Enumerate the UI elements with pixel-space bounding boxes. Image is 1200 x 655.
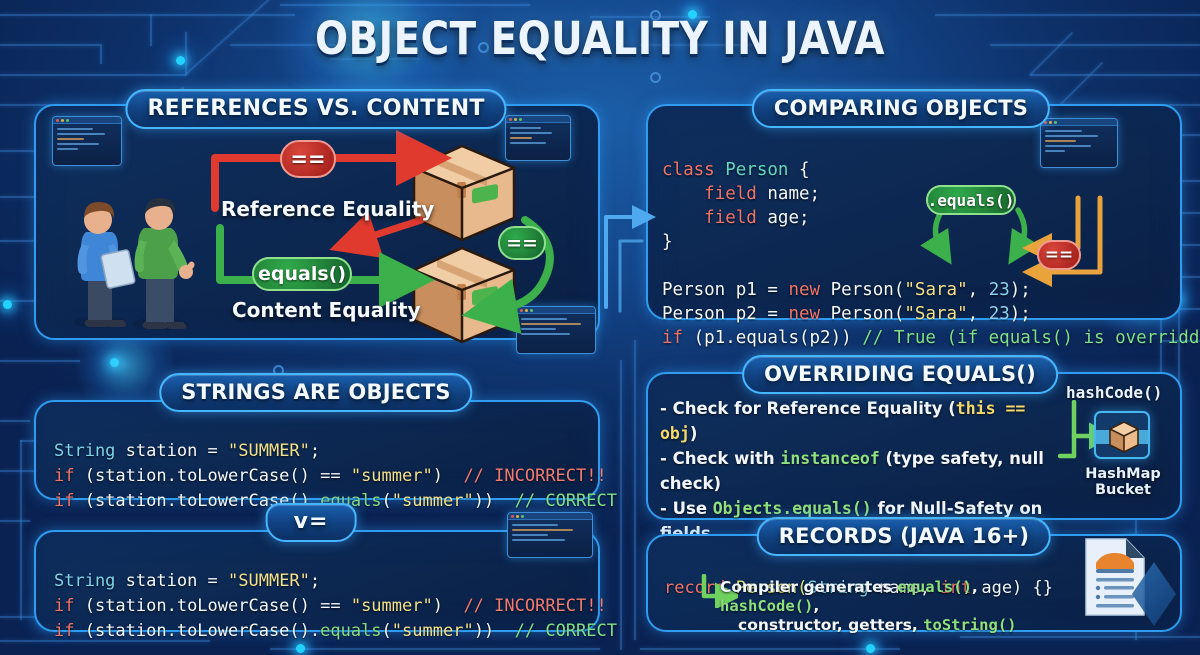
code-field-name: name; xyxy=(767,184,820,204)
code-p1-ctor: Person( xyxy=(831,280,905,300)
header-strings-are-objects: STRINGS ARE OBJECTS xyxy=(159,373,472,412)
code-if-cond: (p1.equals(p2)) xyxy=(694,328,852,348)
t2-str: "summer" xyxy=(351,596,433,616)
code-p2-var: p2 = xyxy=(736,304,778,324)
page-title: OBJECT EQUALITY IN JAVA xyxy=(24,12,1176,65)
code-type-person: Person xyxy=(725,160,788,180)
t1-str: "SUMMER" xyxy=(228,571,310,591)
s1-mid: station = xyxy=(115,441,228,461)
panel-connector-arrow xyxy=(598,185,656,315)
callout-double-equals: == xyxy=(1037,240,1081,270)
records-note-sep2: , xyxy=(813,597,819,615)
code-p2-end: ); xyxy=(1010,304,1031,324)
caption-hashmap-line1: HashMap xyxy=(1080,466,1166,482)
records-note: Compiler generates equals(), hashCode(),… xyxy=(720,578,1060,635)
label-reference-equality: Reference Equality xyxy=(221,197,434,221)
badge-v-equals: v= xyxy=(266,503,357,542)
t3-mid2: ( xyxy=(382,621,392,641)
code-if-comment: // True (if equals() is overridden) xyxy=(862,328,1200,348)
s1-end: ; xyxy=(310,441,320,461)
code-field-age: age; xyxy=(767,208,809,228)
s3-str: "summer" xyxy=(392,491,474,511)
header-overriding-equals: OVERRIDING EQUALS() xyxy=(742,355,1058,394)
bullet-1-dash: - xyxy=(660,399,673,418)
t3-end: )) xyxy=(474,621,515,641)
code-if-kw: if xyxy=(662,328,683,348)
s3-comment: // CORRECT xyxy=(515,491,617,511)
header-comparing-objects: COMPARING OBJECTS xyxy=(752,89,1050,128)
record-document-icon xyxy=(1082,535,1148,619)
t3-mid: (station.toLowerCase(). xyxy=(74,621,320,641)
bullet-3-pre: Use xyxy=(673,499,713,518)
t1-mid: station = xyxy=(115,571,228,591)
code-p2-sep: , xyxy=(968,304,989,324)
code-p1-var: p1 = xyxy=(736,280,778,300)
code-kw-field-1: field xyxy=(704,184,757,204)
code-strings-are-objects: String station = "SUMMER"; if (station.t… xyxy=(54,414,617,514)
bullet-2: - Check with instanceof (type safety, nu… xyxy=(660,446,1065,496)
illustration-two-developers xyxy=(60,140,200,330)
records-note-line1: Compiler generates equals(), hashCode(), xyxy=(720,578,1060,616)
t2-mid: (station.toLowerCase() == xyxy=(74,596,350,616)
bullet-2-code: instanceof xyxy=(780,449,879,468)
infographic-root: OBJECT EQUALITY IN JAVA REFERENCES VS. C… xyxy=(0,0,1200,655)
t3-str: "summer" xyxy=(392,621,474,641)
bullet-1-post: ) xyxy=(690,424,698,443)
code-p2-str: "Sara" xyxy=(904,304,967,324)
s2-mid: (station.toLowerCase() == xyxy=(74,466,350,486)
s3-end: )) xyxy=(474,491,515,511)
records-note-hashcode: hashCode() xyxy=(720,597,813,615)
caption-hashmap-bucket: HashMap Bucket xyxy=(1080,466,1166,498)
code-kw-field-2: field xyxy=(704,208,757,228)
t1-type: String xyxy=(54,571,115,591)
code-p2-num: 23 xyxy=(989,304,1010,324)
t2-comment: // INCORRECT!! xyxy=(463,596,606,616)
code-p2-new: new xyxy=(788,304,820,324)
s2-str: "summer" xyxy=(351,466,433,486)
bullet-2-dash: - xyxy=(660,449,673,468)
label-content-equality: Content Equality xyxy=(232,298,421,322)
records-note-pre: Compiler generates xyxy=(720,578,897,596)
t3-method: equals xyxy=(320,621,381,641)
s2-if: if xyxy=(54,466,74,486)
records-note-line2-pre: constructor, getters, xyxy=(738,616,923,634)
code-brace-open: { xyxy=(799,160,810,180)
bullet-2-pre: Check with xyxy=(673,449,781,468)
code-p2-type: Person xyxy=(662,304,725,324)
bullet-1: - Check for Reference Equality (this == … xyxy=(660,396,1065,446)
code-p1-new: new xyxy=(788,280,820,300)
pill-equals-method: equals() xyxy=(252,257,352,291)
header-records: RECORDS (JAVA 16+) xyxy=(757,517,1051,556)
s3-mid2: ( xyxy=(382,491,392,511)
code-p1-type: Person xyxy=(662,280,725,300)
t1-end: ; xyxy=(310,571,320,591)
code-kw-class: class xyxy=(662,160,715,180)
bullet-3-code: Objects.equals() xyxy=(713,499,872,518)
pill-double-equals-right: == xyxy=(498,226,546,260)
records-note-line2: constructor, getters, toString() xyxy=(720,616,1060,635)
s1-str: "SUMMER" xyxy=(228,441,310,461)
records-note-sep1: , xyxy=(972,578,978,596)
s3-if: if xyxy=(54,491,74,511)
header-references-vs-content: REFERENCES VS. CONTENT xyxy=(125,89,506,129)
pill-double-equals: == xyxy=(280,140,336,178)
code-p2-ctor: Person( xyxy=(831,304,905,324)
s1-type: String xyxy=(54,441,115,461)
callout-equals-method: .equals() xyxy=(926,185,1016,215)
t3-comment: // CORRECT xyxy=(515,621,617,641)
code-strings-second: String station = "SUMMER"; if (station.t… xyxy=(54,544,617,644)
caption-hashmap-line2: Bucket xyxy=(1080,482,1166,498)
code-brace-close: } xyxy=(662,232,673,252)
t3-if: if xyxy=(54,621,74,641)
t2-end: ) xyxy=(433,596,464,616)
s2-comment: // INCORRECT!! xyxy=(463,466,606,486)
records-note-equals: equals() xyxy=(897,578,972,596)
bullet-3-dash: - xyxy=(660,499,673,518)
bullet-1-pre: Check for Reference Equality ( xyxy=(673,399,956,418)
records-note-tostring: toString() xyxy=(923,616,1016,634)
t2-if: if xyxy=(54,596,74,616)
s2-end: ) xyxy=(433,466,464,486)
hashmap-bucket-icon xyxy=(1094,411,1150,459)
